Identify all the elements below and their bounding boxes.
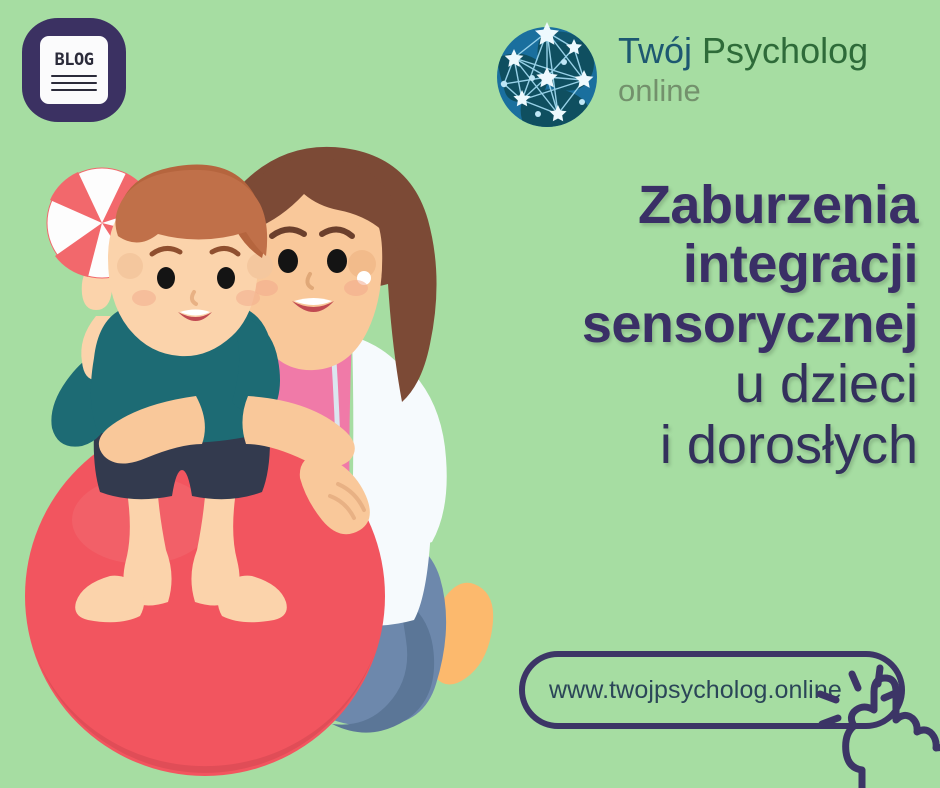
blog-text-lines bbox=[51, 75, 97, 91]
headline-line-2: integracji bbox=[448, 235, 918, 294]
globe-network-icon bbox=[486, 18, 608, 136]
brand-name-part1: Twój bbox=[618, 30, 692, 71]
blog-document-icon: BLOG bbox=[40, 36, 108, 104]
website-url-button[interactable]: www.twojpsycholog.online bbox=[519, 651, 905, 729]
headline-line-5: i dorosłych bbox=[448, 415, 918, 476]
blog-label: BLOG bbox=[55, 52, 94, 69]
headline-line-1: Zaburzenia bbox=[448, 176, 918, 235]
brand-text-block: Twój Psycholog online bbox=[618, 18, 868, 109]
blog-badge[interactable]: BLOG bbox=[22, 18, 126, 122]
brand-subtitle: online bbox=[618, 72, 868, 109]
brand-name-part2: Psycholog bbox=[702, 30, 868, 71]
brand-name: Twój Psycholog bbox=[618, 32, 868, 70]
poster-canvas: BLOG bbox=[0, 0, 940, 788]
page-title: Zaburzenia integracji sensorycznej u dzi… bbox=[448, 176, 918, 476]
headline-line-3: sensorycznej bbox=[448, 295, 918, 354]
website-url-text: www.twojpsycholog.online bbox=[525, 676, 842, 705]
headline-line-4: u dzieci bbox=[448, 354, 918, 415]
brand-header: Twój Psycholog online bbox=[486, 18, 868, 136]
